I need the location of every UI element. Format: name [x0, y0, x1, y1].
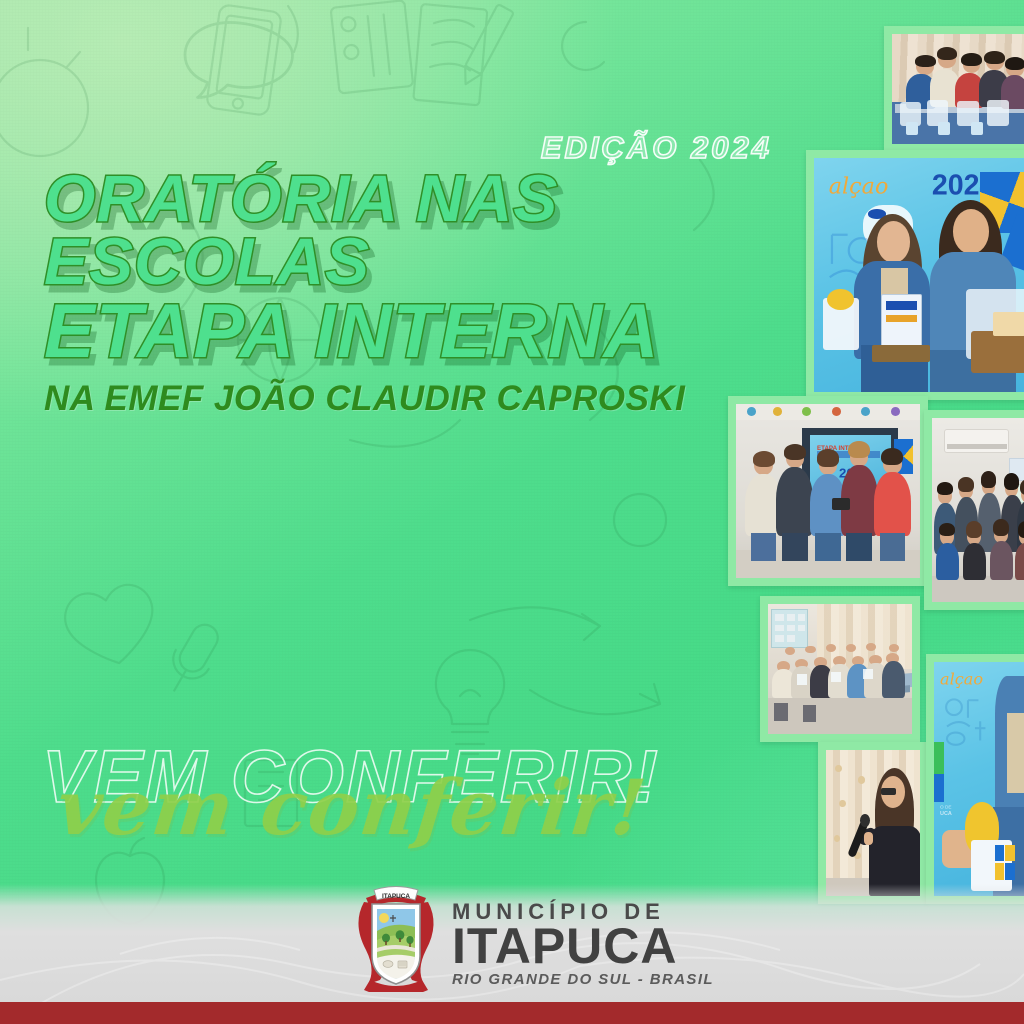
- footer-red-bar: [0, 1002, 1024, 1024]
- photo-teachers-award: ETAPA INTERNA 20: [728, 396, 928, 586]
- brand-line-itapuca: ITAPUCA: [452, 923, 714, 971]
- photo-collage: alçao 2024: [0, 0, 1024, 1024]
- svg-text:O DE: O DE: [940, 805, 951, 810]
- photo-gift-basket: alçao: [926, 654, 1024, 904]
- svg-text:ITAPUCA: ITAPUCA: [382, 893, 410, 900]
- brand-line-state: RIO GRANDE DO SUL - BRASIL: [452, 971, 714, 988]
- municipality-brand: MUNICÍPIO DE ITAPUCA RIO GRANDE DO SUL -…: [452, 899, 714, 989]
- photo-class-group: [924, 410, 1024, 610]
- photo-speaker-microphone: [818, 742, 928, 904]
- footer-bar: ITAPUCA: [0, 884, 1024, 1024]
- photo-students-seated-row: [760, 596, 920, 742]
- itapuca-coat-of-arms: ITAPUCA: [348, 884, 444, 992]
- poster-canvas: EDIÇÃO 2024 ORATÓRIA NAS ESCOLAS ETAPA I…: [0, 0, 1024, 1024]
- svg-text:UCA: UCA: [940, 811, 952, 817]
- photo-group-table-snacks: [884, 26, 1024, 152]
- photo-winner-and-teacher: alçao 2024: [806, 150, 1024, 400]
- svg-text:alçao: alçao: [940, 669, 983, 688]
- svg-text:alçao: alçao: [829, 174, 889, 200]
